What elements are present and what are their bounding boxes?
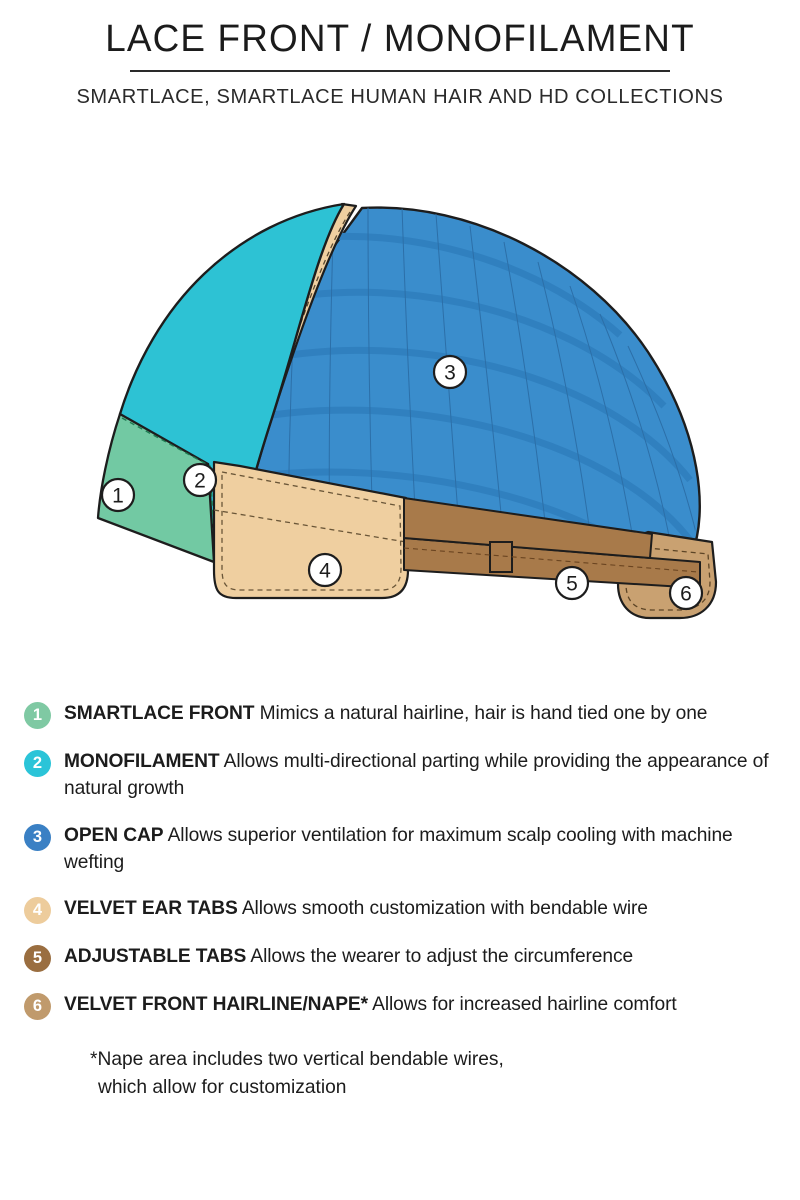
diagram-marker-3: 3 xyxy=(434,356,466,388)
legend-description-4: Allows smooth customization with bendabl… xyxy=(238,898,648,919)
legend-list: 1 SMARTLACE FRONT Mimics a natural hairl… xyxy=(0,700,800,1103)
diagram-marker-4: 4 xyxy=(309,554,341,586)
page-subtitle: SMARTLACE, SMARTLACE HUMAN HAIR AND HD C… xyxy=(8,85,792,109)
legend-description-5: Allows the wearer to adjust the circumfe… xyxy=(246,946,633,967)
diagram-marker-1: 1 xyxy=(102,479,134,511)
footnote-line-1: *Nape area includes two vertical bendabl… xyxy=(90,1049,504,1070)
legend-term-6: VELVET FRONT HAIRLINE/NAPE* xyxy=(64,994,368,1015)
legend-term-4: VELVET EAR TABS xyxy=(64,898,238,919)
page-header: LACE FRONT / MONOFILAMENT SMARTLACE, SMA… xyxy=(0,0,800,109)
diagram-marker-3-label: 3 xyxy=(444,362,456,385)
diagram-marker-6-label: 6 xyxy=(680,583,692,606)
legend-description-1: Mimics a natural hairline, hair is hand … xyxy=(254,703,707,724)
legend-description-3: Allows superior ventilation for maximum … xyxy=(64,825,733,873)
legend-item-6: 6 VELVET FRONT HAIRLINE/NAPE* Allows for… xyxy=(24,991,772,1020)
legend-text-6: VELVET FRONT HAIRLINE/NAPE* Allows for i… xyxy=(64,991,677,1018)
legend-text-4: VELVET EAR TABS Allows smooth customizat… xyxy=(64,895,648,922)
legend-item-2: 2 MONOFILAMENT Allows multi-directional … xyxy=(24,748,772,803)
legend-text-5: ADJUSTABLE TABS Allows the wearer to adj… xyxy=(64,943,633,970)
legend-term-5: ADJUSTABLE TABS xyxy=(64,946,246,967)
legend-item-5: 5 ADJUSTABLE TABS Allows the wearer to a… xyxy=(24,943,772,972)
legend-text-2: MONOFILAMENT Allows multi-directional pa… xyxy=(64,748,772,803)
legend-description-6: Allows for increased hairline comfort xyxy=(368,994,677,1015)
legend-term-2: MONOFILAMENT xyxy=(64,751,219,772)
legend-badge-6: 6 xyxy=(24,993,51,1020)
diagram-marker-6: 6 xyxy=(670,577,702,609)
page-root: LACE FRONT / MONOFILAMENT SMARTLACE, SMA… xyxy=(0,0,800,1200)
legend-item-3: 3 OPEN CAP Allows superior ventilation f… xyxy=(24,822,772,877)
legend-term-1: SMARTLACE FRONT xyxy=(64,703,254,724)
diagram-marker-4-label: 4 xyxy=(319,560,331,583)
legend-item-1: 1 SMARTLACE FRONT Mimics a natural hairl… xyxy=(24,700,772,729)
legend-badge-5: 5 xyxy=(24,945,51,972)
legend-badge-3: 3 xyxy=(24,824,51,851)
diagram-marker-5-label: 5 xyxy=(566,573,578,596)
legend-badge-2: 2 xyxy=(24,750,51,777)
diagram-marker-1-label: 1 xyxy=(112,485,124,508)
legend-badge-4: 4 xyxy=(24,897,51,924)
legend-badge-1: 1 xyxy=(24,702,51,729)
diagram-marker-5: 5 xyxy=(556,567,588,599)
legend-text-3: OPEN CAP Allows superior ventilation for… xyxy=(64,822,772,877)
diagram-marker-2: 2 xyxy=(184,464,216,496)
title-divider xyxy=(130,70,670,72)
legend-item-4: 4 VELVET EAR TABS Allows smooth customiz… xyxy=(24,895,772,924)
diagram-marker-2-label: 2 xyxy=(194,470,206,493)
legend-footnote: *Nape area includes two vertical bendabl… xyxy=(90,1046,772,1103)
wig-cap-diagram: 2 3 1 4 5 6 xyxy=(0,150,800,680)
footnote-line-2: which allow for customization xyxy=(90,1074,772,1102)
legend-text-1: SMARTLACE FRONT Mimics a natural hairlin… xyxy=(64,700,707,727)
legend-term-3: OPEN CAP xyxy=(64,825,163,846)
page-title: LACE FRONT / MONOFILAMENT xyxy=(12,20,788,60)
